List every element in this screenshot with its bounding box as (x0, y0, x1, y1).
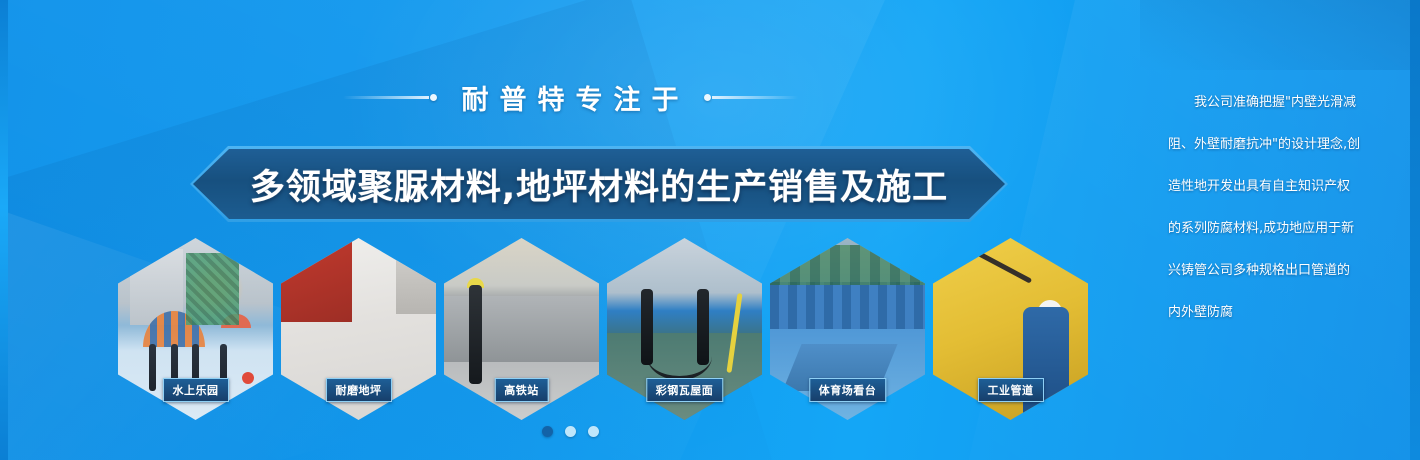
thumbnail-item-waterpark[interactable]: 水上乐园 (118, 238, 273, 420)
decorative-rule-left (343, 96, 429, 99)
description-line: 造性地开发出具有自主知识产权 (1168, 166, 1384, 208)
carousel-dot-3[interactable] (588, 426, 599, 437)
rule-dot-left (430, 94, 437, 101)
description-line: 我公司准确把握"内壁光滑减 (1168, 82, 1384, 124)
rule-dot-right (704, 94, 711, 101)
company-description: 我公司准确把握"内壁光滑减 阻、外壁耐磨抗冲"的设计理念,创 造性地开发出具有自… (1168, 82, 1384, 334)
carousel-dots (0, 426, 1140, 437)
banner-title: 多领域聚脲材料,地坪材料的生产销售及施工 (250, 159, 948, 210)
thumbnail-caption: 耐磨地坪 (326, 378, 392, 402)
description-line: 内外壁防腐 (1168, 292, 1384, 334)
thumbnail-item-pipeline[interactable]: 工业管道 (933, 238, 1088, 420)
thumbnail-caption: 体育场看台 (809, 378, 887, 402)
thumbnail-caption: 工业管道 (978, 378, 1044, 402)
thumbnail-row: 水上乐园 耐磨地坪 高铁站 (118, 238, 1113, 420)
carousel-dot-1[interactable] (542, 426, 553, 437)
title-plaque: 多领域聚脲材料,地坪材料的生产销售及施工 (190, 146, 1008, 222)
promo-banner: 耐普特专注于 多领域聚脲材料,地坪材料的生产销售及施工 (0, 0, 1420, 460)
thumbnail-caption: 彩钢瓦屋面 (646, 378, 724, 402)
decorative-rule-right (712, 96, 798, 99)
thumbnail-item-floor[interactable]: 耐磨地坪 (281, 238, 436, 420)
thumbnail-item-stadium[interactable]: 体育场看台 (770, 238, 925, 420)
thumbnail-caption: 水上乐园 (163, 378, 229, 402)
thumbnail-caption: 高铁站 (494, 378, 549, 402)
title-plaque-fill: 多领域聚脲材料,地坪材料的生产销售及施工 (193, 149, 1005, 219)
description-line: 的系列防腐材料,成功地应用于新 (1168, 208, 1384, 250)
description-line: 阻、外壁耐磨抗冲"的设计理念,创 (1168, 124, 1384, 166)
thumbnail-item-rail-station[interactable]: 高铁站 (444, 238, 599, 420)
thumbnail-item-steel-roof[interactable]: 彩钢瓦屋面 (607, 238, 762, 420)
carousel-dot-2[interactable] (565, 426, 576, 437)
eyebrow-text: 耐普特专注于 (451, 78, 690, 117)
eyebrow-headline: 耐普特专注于 (0, 78, 1140, 117)
description-line: 兴铸管公司多种规格出口管道的 (1168, 250, 1384, 292)
